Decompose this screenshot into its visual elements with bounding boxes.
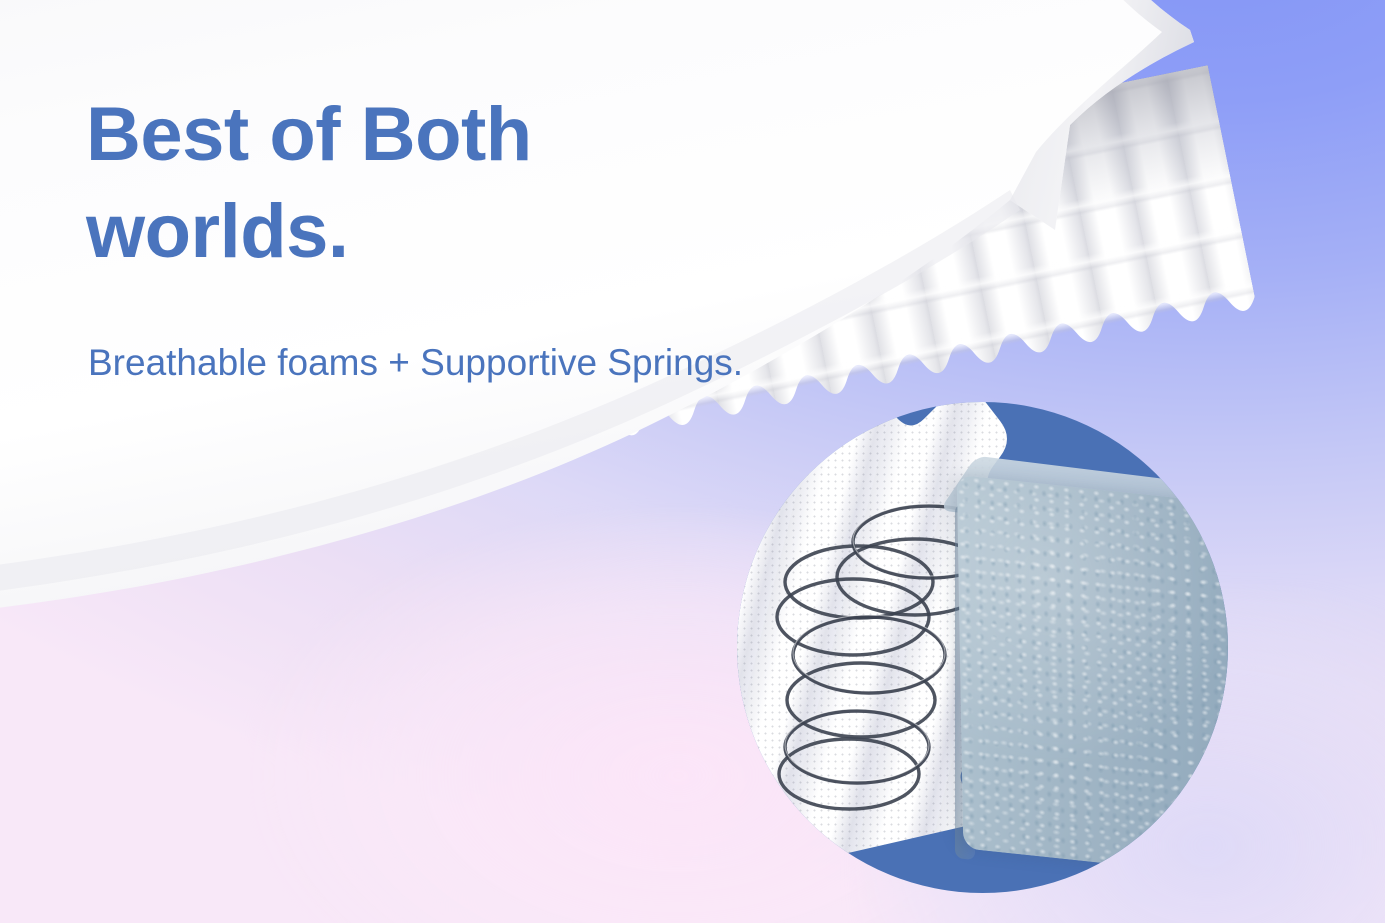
- breathable-foam-block: [737, 402, 1228, 893]
- hero-banner: Best of Both worlds. Breathable foams + …: [0, 0, 1385, 923]
- foam-block-front-face: [957, 475, 1228, 879]
- cutaway-detail-circle: [737, 402, 1228, 893]
- foam-open-cell-texture: [957, 475, 1228, 879]
- page-subtitle: Breathable foams + Supportive Springs.: [88, 341, 743, 385]
- page-title: Best of Both worlds.: [86, 86, 766, 281]
